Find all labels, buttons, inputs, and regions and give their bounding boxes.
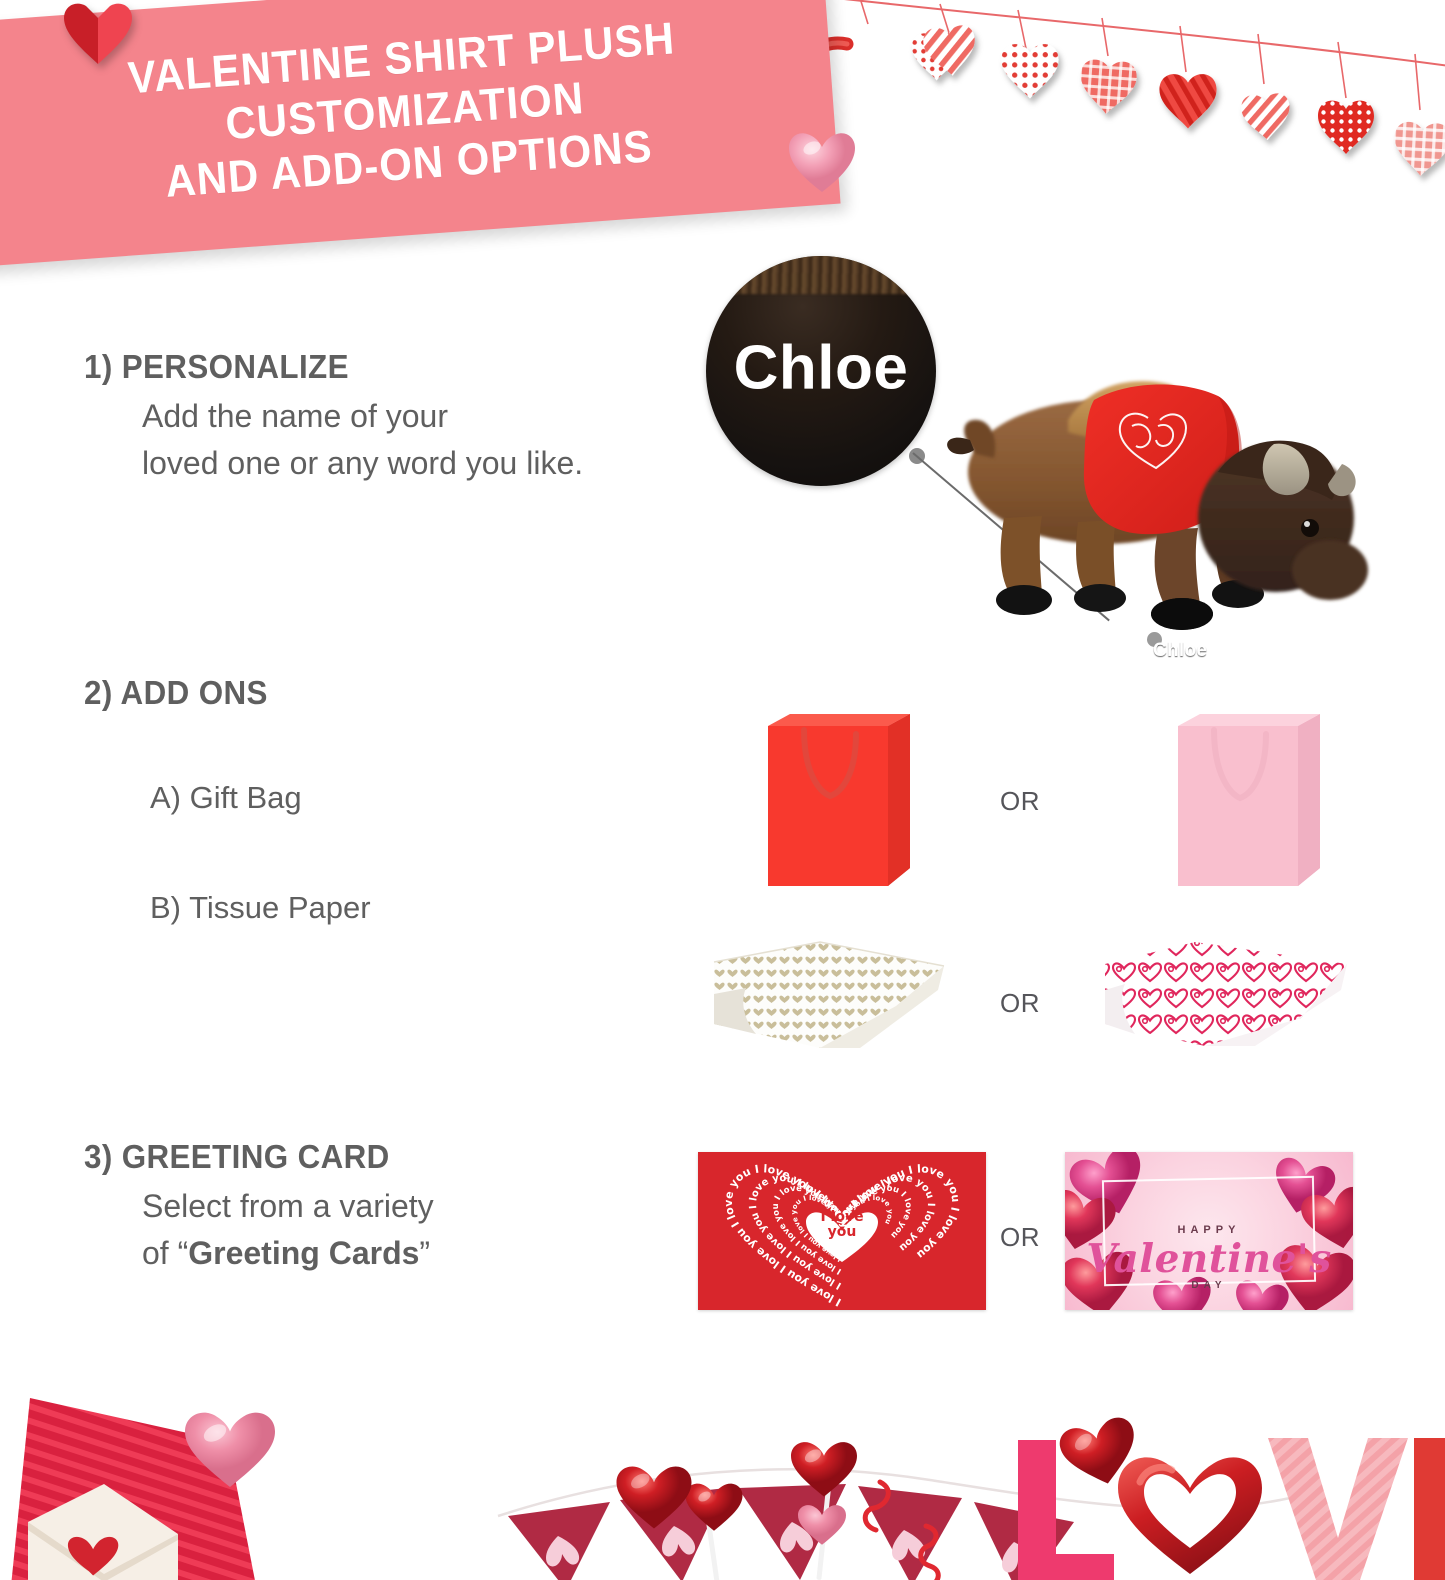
bison-plush-product-image <box>918 322 1368 672</box>
gold-heart-tissue-paper-image <box>700 928 960 1058</box>
step-3-body-line-1: Select from a variety <box>142 1184 434 1229</box>
folded-paper-heart-icon <box>62 0 134 66</box>
step-1-body-line-1: Add the name of your <box>142 394 583 439</box>
step-3-suffix: ” <box>419 1235 430 1271</box>
step-2-title: 2) ADD ONS <box>84 674 268 712</box>
magnified-name-label: Chloe <box>706 333 936 404</box>
hoof-embroidered-name: Chloe <box>1153 640 1207 662</box>
step-2-add-ons: 2) ADD ONS <box>84 674 277 712</box>
option-a-label: Gift Bag <box>190 780 302 815</box>
card-center-text: I love you <box>806 1210 878 1241</box>
pink-glossy-heart-icon <box>786 128 858 196</box>
step-1-body-line-2: loved one or any word you like. <box>142 441 583 486</box>
step-3-body-line-2: of “Greeting Cards” <box>142 1231 434 1276</box>
card-center-line-2: you <box>806 1225 878 1240</box>
heart-garland-decoration <box>790 0 1445 218</box>
step-1-title: 1) PERSONALIZE <box>84 348 558 386</box>
red-heart-tissue-paper-image <box>1085 934 1355 1054</box>
pink-gift-bag-image <box>1170 700 1340 900</box>
step-3-title: 3) GREETING CARD <box>84 1138 416 1176</box>
option-tissue-paper: B) Tissue Paper <box>150 890 371 926</box>
card-valentines-label: Valentine's <box>1065 1236 1353 1282</box>
chloe-name-magnifier: Chloe <box>706 256 936 486</box>
step-3-prefix: of “ <box>142 1235 188 1271</box>
step-3-greeting-card: 3) GREETING CARD Select from a variety o… <box>84 1138 434 1277</box>
card-day-label: DAY <box>1065 1280 1353 1291</box>
option-b-label: Tissue Paper <box>189 890 371 925</box>
card-center-line-1: I love <box>806 1210 878 1225</box>
i-love-you-greeting-card: I love you I love you I love you I love … <box>698 1152 986 1310</box>
or-label-card: OR <box>1000 1222 1040 1253</box>
or-label-gift-bag: OR <box>1000 786 1040 817</box>
fur-texture <box>706 256 936 294</box>
love-word-decoration <box>1010 1434 1445 1580</box>
step-1-personalize: 1) PERSONALIZE Add the name of your love… <box>84 348 583 487</box>
card-happy-label: HAPPY <box>1065 1224 1353 1236</box>
option-gift-bag: A) Gift Bag <box>150 780 302 816</box>
red-gift-bag-image <box>760 700 930 900</box>
infographic-page: VALENTINE SHIRT PLUSH CUSTOMIZATION AND … <box>0 0 1445 1580</box>
step-3-bold: Greeting Cards <box>188 1235 419 1271</box>
option-a-marker: A) <box>150 780 181 815</box>
option-b-marker: B) <box>150 890 181 925</box>
happy-valentines-day-greeting-card: HAPPY Valentine's DAY <box>1065 1152 1353 1310</box>
or-label-tissue: OR <box>1000 988 1040 1019</box>
